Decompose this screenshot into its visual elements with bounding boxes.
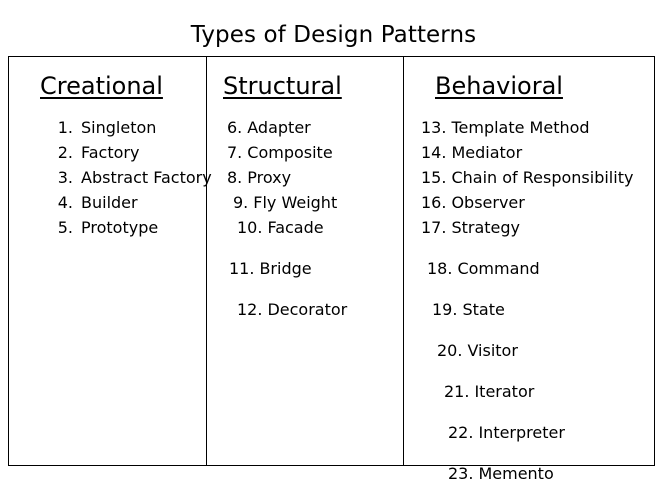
list-item-label: Abstract Factory	[81, 165, 212, 190]
column-header-structural: Structural	[223, 72, 342, 100]
list-item-label: Chain of Responsibility	[451, 165, 633, 190]
list-item: 10.Facade	[207, 215, 403, 240]
design-patterns-table: Creational 1.Singleton 2.Factory 3.Abstr…	[8, 56, 655, 466]
list-item-number: 1.	[56, 115, 73, 140]
list-item: 9.Fly Weight	[207, 190, 403, 215]
list-item-number: 23.	[448, 461, 473, 486]
list-item-number: 17.	[421, 215, 446, 240]
list-item-label: Strategy	[451, 215, 520, 240]
pattern-list-behavioral: 13.Template Method 14.Mediator 15.Chain …	[404, 115, 654, 486]
list-item-number: 22.	[448, 420, 473, 445]
list-item-label: Interpreter	[478, 420, 564, 445]
list-item-number: 13.	[421, 115, 446, 140]
list-item-number: 10.	[237, 215, 262, 240]
list-item: 3.Abstract Factory	[9, 165, 206, 190]
list-item: 4.Builder	[9, 190, 206, 215]
list-item-number: 16.	[421, 190, 446, 215]
list-item: 12.Decorator	[207, 297, 403, 322]
list-item: 7.Composite	[207, 140, 403, 165]
list-item-number: 9.	[233, 190, 248, 215]
list-item-label: Observer	[451, 190, 524, 215]
list-item: 11.Bridge	[207, 256, 403, 281]
list-item-number: 15.	[421, 165, 446, 190]
list-item-label: State	[462, 297, 504, 322]
list-item: 14.Mediator	[404, 140, 654, 165]
column-structural: Structural 6.Adapter 7.Composite 8.Proxy…	[207, 57, 404, 465]
list-item-label: Proxy	[247, 165, 291, 190]
list-item-label: Facade	[267, 215, 323, 240]
list-item-label: Singleton	[81, 115, 156, 140]
list-item-number: 3.	[56, 165, 73, 190]
list-item: 20.Visitor	[404, 338, 654, 363]
list-item: 2.Factory	[9, 140, 206, 165]
list-item-number: 12.	[237, 297, 262, 322]
list-item-label: Decorator	[267, 297, 347, 322]
pattern-list-creational: 1.Singleton 2.Factory 3.Abstract Factory…	[9, 115, 206, 240]
list-item: 19.State	[404, 297, 654, 322]
list-item-label: Prototype	[81, 215, 158, 240]
list-item: 15.Chain of Responsibility	[404, 165, 654, 190]
column-header-creational: Creational	[40, 72, 163, 100]
list-item: 17.Strategy	[404, 215, 654, 240]
list-item-label: Visitor	[467, 338, 517, 363]
list-item: 13.Template Method	[404, 115, 654, 140]
list-item-number: 20.	[437, 338, 462, 363]
list-item-label: Adapter	[247, 115, 310, 140]
list-item-label: Bridge	[259, 256, 311, 281]
list-item-number: 14.	[421, 140, 446, 165]
list-item: 22.Interpreter	[404, 420, 654, 445]
list-item-label: Builder	[81, 190, 138, 215]
list-item: 21.Iterator	[404, 379, 654, 404]
list-item: 16.Observer	[404, 190, 654, 215]
column-header-behavioral: Behavioral	[435, 72, 563, 100]
column-behavioral: Behavioral 13.Template Method 14.Mediato…	[404, 57, 654, 465]
list-item-label: Memento	[478, 461, 553, 486]
list-item-label: Template Method	[451, 115, 589, 140]
list-item-number: 19.	[432, 297, 457, 322]
list-item-number: 5.	[56, 215, 73, 240]
list-item-number: 8.	[227, 165, 242, 190]
list-item: 8.Proxy	[207, 165, 403, 190]
list-item-number: 11.	[229, 256, 254, 281]
list-item-number: 6.	[227, 115, 242, 140]
list-item-label: Composite	[247, 140, 332, 165]
list-item-number: 7.	[227, 140, 242, 165]
list-item-label: Factory	[81, 140, 139, 165]
list-item-number: 21.	[444, 379, 469, 404]
pattern-list-structural: 6.Adapter 7.Composite 8.Proxy 9.Fly Weig…	[207, 115, 403, 322]
column-creational: Creational 1.Singleton 2.Factory 3.Abstr…	[9, 57, 207, 465]
list-item-number: 2.	[56, 140, 73, 165]
list-item-label: Iterator	[474, 379, 534, 404]
list-item: 1.Singleton	[9, 115, 206, 140]
list-item-label: Fly Weight	[253, 190, 337, 215]
list-item-label: Mediator	[451, 140, 522, 165]
list-item-label: Command	[457, 256, 539, 281]
list-item-number: 4.	[56, 190, 73, 215]
list-item: 18.Command	[404, 256, 654, 281]
list-item: 23.Memento	[404, 461, 654, 486]
page-title: Types of Design Patterns	[0, 21, 667, 49]
list-item-number: 18.	[427, 256, 452, 281]
list-item: 6.Adapter	[207, 115, 403, 140]
list-item: 5.Prototype	[9, 215, 206, 240]
